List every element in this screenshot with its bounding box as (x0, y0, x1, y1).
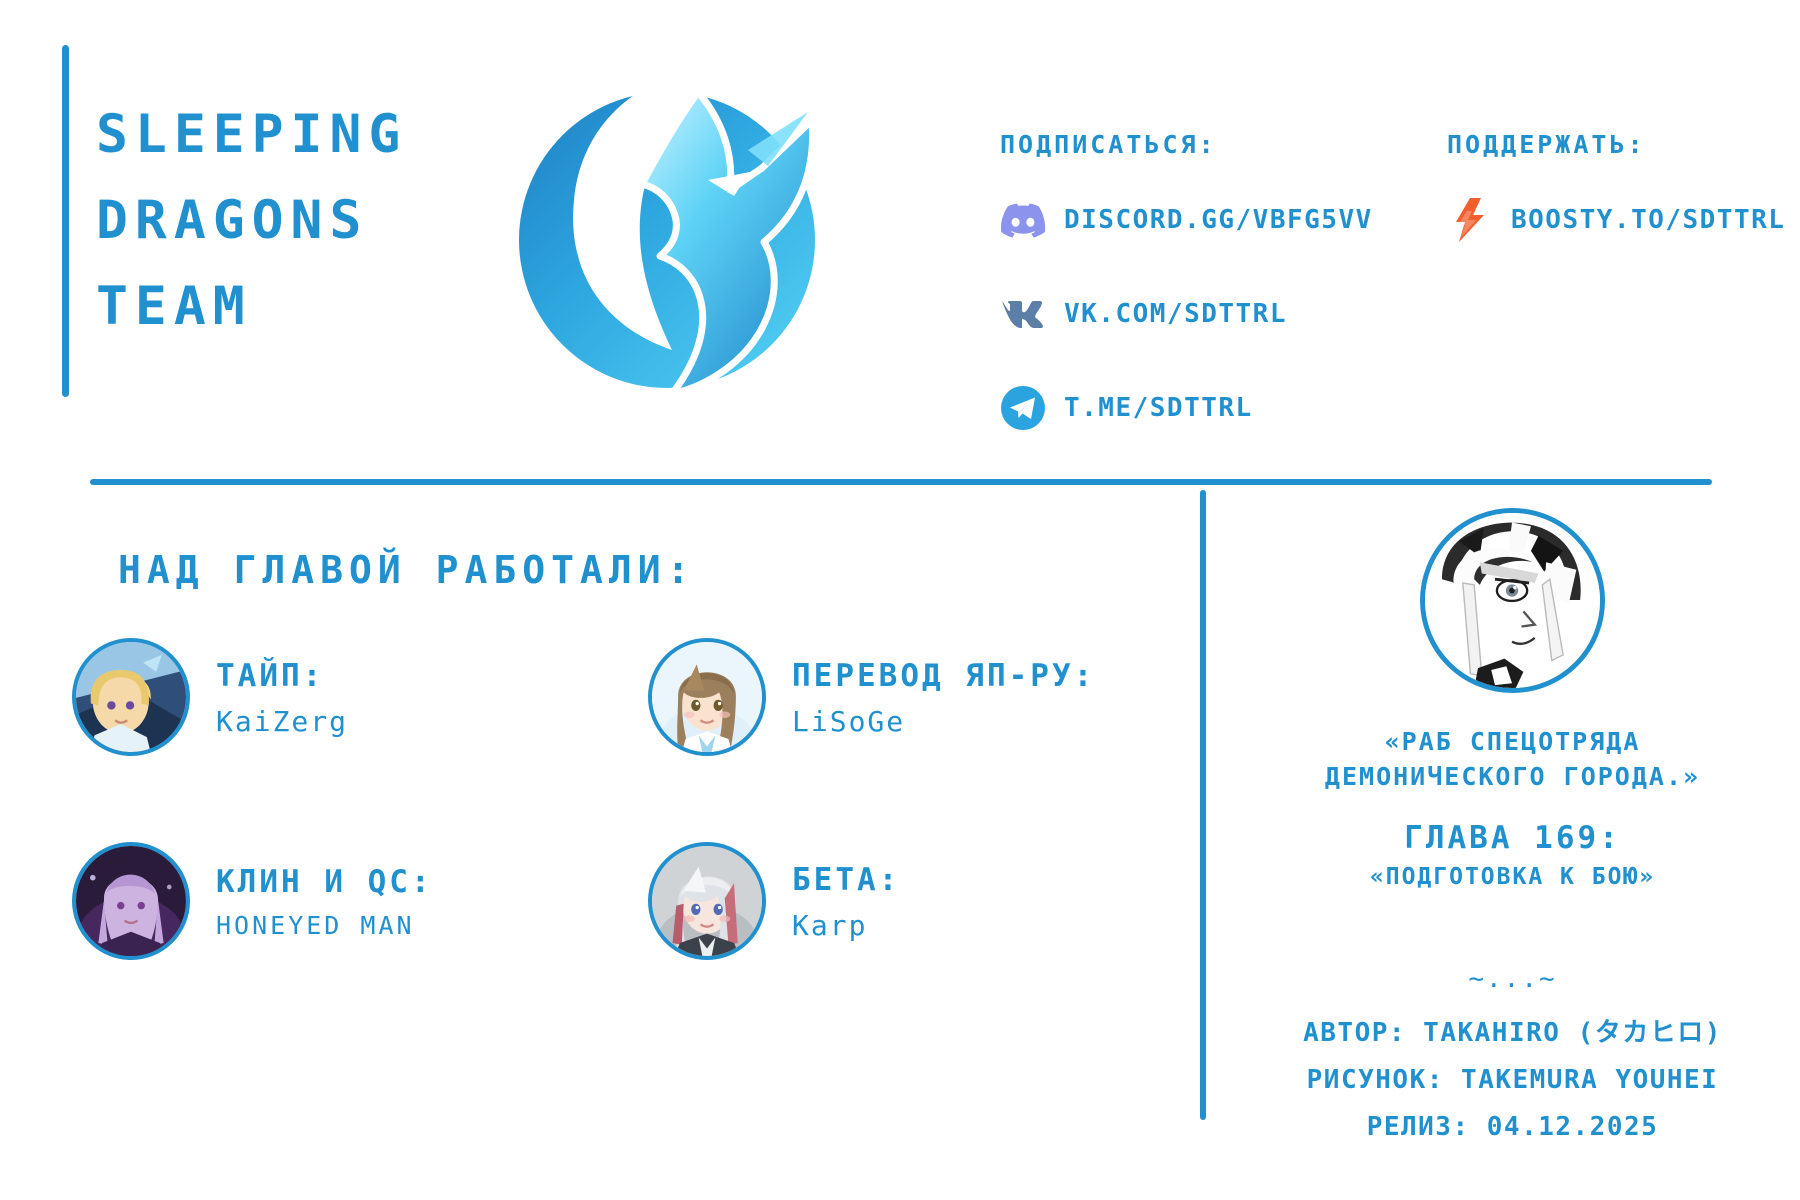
credit-nick: Karp (792, 909, 900, 942)
panel-divider (1200, 490, 1206, 1120)
credit-entry: КЛИН И QC: HONEYED MAN (72, 842, 433, 960)
team-name-line-2: DRAGONS (96, 178, 496, 264)
meta-author: АВТОР: TAKAHIRO (タカヒロ) (1240, 1014, 1785, 1053)
credit-text: КЛИН И QC: HONEYED MAN (216, 862, 433, 940)
credit-nick: KaiZerg (216, 705, 348, 738)
avatar-lisoge (648, 638, 766, 756)
social-link-boosty[interactable]: BOOSTY.TO/SDTTRL (1447, 196, 1785, 244)
telegram-link-label: T.ME/SDTTRL (1064, 393, 1253, 423)
social-link-telegram[interactable]: T.ME/SDTTRL (1000, 384, 1373, 432)
credit-entry: БЕТА: Karp (648, 842, 900, 960)
team-name-line-1: SLEEPING (96, 92, 496, 178)
header-section: SLEEPING DRAGONS TEAM (0, 0, 1800, 480)
credit-role: КЛИН И QC: (216, 864, 433, 900)
support-heading: ПОДДЕРЖАТЬ: (1447, 130, 1785, 159)
subscribe-heading: ПОДПИСАТЬСЯ: (1000, 130, 1373, 159)
manga-title-line-1: «РАБ СПЕЦОТРЯДА (1240, 724, 1785, 759)
subscribe-column: ПОДПИСАТЬСЯ: DISCORD.GG/VBFG5VV VK.COM/S… (1000, 130, 1373, 478)
social-link-vk[interactable]: VK.COM/SDTTRL (1000, 290, 1373, 338)
discord-icon (1000, 197, 1046, 243)
avatar-karp (648, 842, 766, 960)
credit-text: БЕТА: Karp (792, 860, 900, 942)
credit-entry: ТАЙП: KaiZerg (72, 638, 348, 756)
manga-title: «РАБ СПЕЦОТРЯДА ДЕМОНИЧЕСКОГО ГОРОДА.» (1240, 724, 1785, 794)
team-name: SLEEPING DRAGONS TEAM (96, 92, 496, 350)
section-divider (90, 479, 1712, 485)
credit-text: ПЕРЕВОД ЯП-РУ: LiSoGe (792, 656, 1095, 738)
separator-ornament: ~...~ (1240, 964, 1785, 994)
telegram-icon (1000, 385, 1046, 431)
vk-icon (1000, 291, 1046, 337)
dragon-logo (512, 50, 822, 395)
accent-bar-left (62, 45, 69, 397)
boosty-icon (1447, 197, 1493, 243)
boosty-link-label: BOOSTY.TO/SDTTRL (1511, 205, 1785, 235)
discord-link-label: DISCORD.GG/VBFG5VV (1064, 205, 1373, 235)
credit-role: БЕТА: (792, 862, 900, 898)
manga-title-line-2: ДЕМОНИЧЕСКОГО ГОРОДА.» (1240, 759, 1785, 794)
credit-entry: ПЕРЕВОД ЯП-РУ: LiSoGe (648, 638, 1095, 756)
credit-role: ПЕРЕВОД ЯП-РУ: (792, 658, 1095, 694)
vk-link-label: VK.COM/SDTTRL (1064, 299, 1287, 329)
credit-nick: HONEYED MAN (216, 911, 433, 940)
avatar-kaizerg (72, 638, 190, 756)
chapter-number: ГЛАВА 169: (1240, 820, 1785, 856)
manga-info-panel: «РАБ СПЕЦОТРЯДА ДЕМОНИЧЕСКОГО ГОРОДА.» Г… (1240, 490, 1785, 1147)
credit-text: ТАЙП: KaiZerg (216, 656, 348, 738)
team-name-line-3: TEAM (96, 264, 496, 350)
social-link-discord[interactable]: DISCORD.GG/VBFG5VV (1000, 196, 1373, 244)
credit-nick: LiSoGe (792, 705, 1095, 738)
credits-heading: НАД ГЛАВОЙ РАБОТАЛИ: (118, 548, 696, 592)
meta-release: РЕЛИЗ: 04.12.2025 (1240, 1108, 1785, 1147)
meta-artist: РИСУНОК: TAKEMURA YOUHEI (1240, 1061, 1785, 1100)
credits-page: SLEEPING DRAGONS TEAM (0, 0, 1800, 1200)
credit-role: ТАЙП: (216, 658, 348, 694)
chapter-subtitle: «ПОДГОТОВКА К БОЮ» (1240, 864, 1785, 890)
manga-cover-portrait (1420, 508, 1605, 693)
credits-section: НАД ГЛАВОЙ РАБОТАЛИ: (0, 490, 1800, 1200)
support-column: ПОДДЕРЖАТЬ: BOOSTY.TO/SDTTRL (1447, 130, 1785, 290)
avatar-honeyed-man (72, 842, 190, 960)
